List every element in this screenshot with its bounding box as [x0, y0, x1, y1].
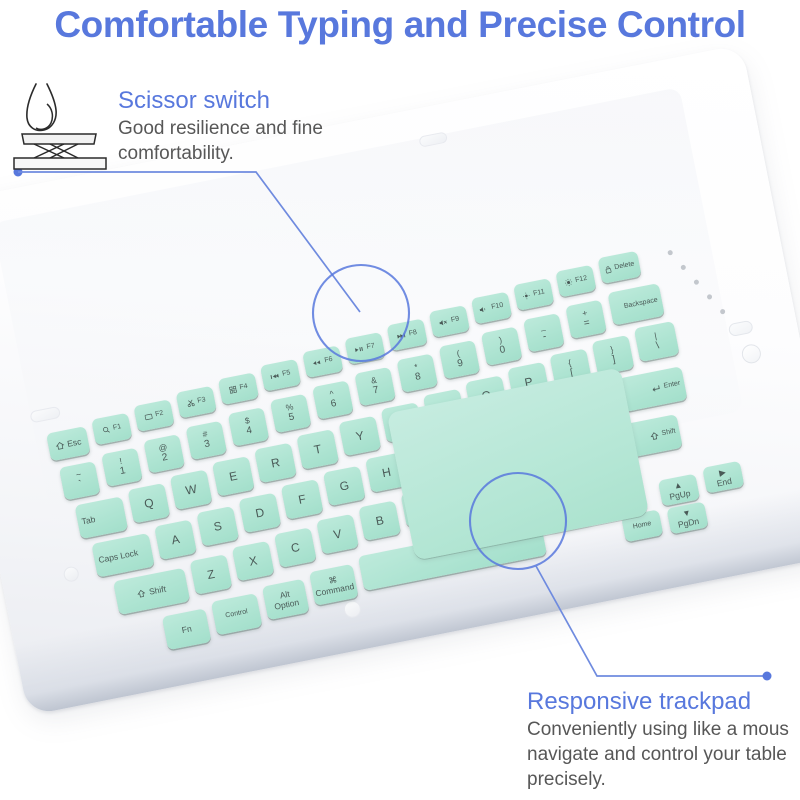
key-f9[interactable]: F9 [429, 305, 470, 338]
key-legend-lower: 0 [499, 345, 506, 356]
key-label: F8 [408, 329, 417, 338]
key-legend-lower: \ [655, 341, 660, 352]
key-tab[interactable]: Tab [75, 496, 129, 539]
scissors-icon [186, 398, 195, 407]
key-fn[interactable]: Fn [162, 608, 212, 650]
key-label: Y [355, 429, 365, 443]
lock-icon [604, 265, 612, 274]
key-f2[interactable]: F2 [133, 399, 174, 432]
key-v[interactable]: V [316, 514, 359, 555]
page-title: Comfortable Typing and Precise Control [0, 0, 800, 50]
key-label: F11 [533, 289, 546, 298]
key-4[interactable]: $ 4 [228, 407, 270, 446]
key-g[interactable]: G [323, 466, 366, 507]
play-pause-icon [354, 345, 364, 355]
key-f5[interactable]: F5 [260, 359, 301, 392]
keyboard-icon [144, 412, 153, 421]
key-label: R [270, 456, 281, 470]
key-sublabel: Option [274, 598, 300, 612]
key-alt-option-left[interactable]: Alt Option [262, 579, 310, 621]
key-label: F3 [197, 397, 206, 406]
led-indicator-5 [720, 309, 726, 315]
key-label: D [254, 506, 265, 520]
key-label: Z [206, 568, 216, 582]
key-esc[interactable]: Esc [46, 426, 91, 461]
key-label: F12 [575, 275, 588, 285]
shift-arrow-icon [649, 430, 660, 441]
key-legend-lower: = [583, 318, 591, 329]
key-legend-lower: ` [78, 480, 83, 491]
key-label: End [716, 476, 733, 488]
key-label: A [170, 533, 180, 547]
key-label: F [297, 492, 307, 506]
key-label: Control [225, 608, 249, 620]
key-f1[interactable]: F1 [91, 413, 132, 446]
key-label: S [213, 519, 223, 533]
key-f4[interactable]: F4 [218, 372, 259, 405]
key-legend-upper: | [654, 331, 658, 340]
callout-heading: Scissor switch [118, 86, 388, 116]
home-icon [55, 440, 66, 451]
scissor-switch-diagram [6, 82, 112, 174]
callout-body-line1: Conveniently using like a mous [527, 717, 800, 742]
key-legend-lower: 8 [414, 372, 421, 383]
apps-icon [228, 385, 237, 394]
base-plate [14, 158, 106, 169]
key-1[interactable]: ! 1 [101, 448, 143, 487]
key-y[interactable]: Y [338, 416, 381, 457]
led-indicator-4 [707, 294, 713, 300]
top-left-notch [29, 406, 61, 424]
bluetooth-switch[interactable] [728, 320, 754, 337]
key-label: F6 [324, 356, 333, 365]
callout-body-line2: navigate and control your table [527, 742, 800, 767]
callout-heading: Responsive trackpad [527, 687, 800, 717]
key-label: Shift [148, 584, 166, 596]
key-x[interactable]: X [232, 541, 275, 582]
key-label: Command [315, 582, 355, 598]
key-3[interactable]: # 3 [185, 421, 227, 460]
rewind-icon [312, 358, 322, 368]
key-7[interactable]: & 7 [354, 367, 396, 406]
key-label: Fn [181, 624, 192, 635]
key-w[interactable]: W [170, 469, 213, 510]
brightness-down-icon [522, 291, 531, 300]
key-legend-lower: 7 [372, 386, 379, 397]
callout-body-line3: precisely. [527, 767, 800, 792]
key-5[interactable]: % 5 [270, 394, 312, 433]
key-label: G [338, 479, 350, 493]
callout-body-line2: comfortability. [118, 141, 388, 166]
key-pgup[interactable]: ▲ PgUp [658, 474, 700, 507]
key-f7[interactable]: F7 [344, 332, 385, 365]
key-r[interactable]: R [254, 443, 297, 484]
mute-icon [439, 318, 449, 328]
key-label: F10 [491, 302, 504, 312]
key-label: B [375, 514, 385, 528]
key-command-left[interactable]: ⌘ Command [309, 564, 359, 606]
key-label: H [381, 465, 392, 479]
key-backslash[interactable]: | \ [634, 321, 680, 362]
key-legend-lower: ] [612, 355, 617, 366]
key-label: F4 [239, 383, 248, 392]
key-f10[interactable]: F10 [471, 292, 512, 325]
key-equals[interactable]: + = [565, 300, 607, 339]
key-8[interactable]: * 8 [396, 353, 438, 392]
key-legend-upper: } [610, 345, 615, 354]
key-9[interactable]: ( 9 [439, 340, 481, 379]
led-indicator-1 [667, 250, 673, 256]
key-backtick[interactable]: ~ ` [59, 461, 101, 500]
key-label: E [228, 469, 238, 483]
key-legend-lower: 6 [330, 399, 337, 410]
key-label: X [248, 554, 258, 568]
key-label: Enter [663, 380, 681, 390]
key-delete[interactable]: Delete [597, 251, 641, 284]
power-button[interactable] [740, 343, 762, 365]
key-enter[interactable]: Enter [618, 366, 687, 412]
brightness-up-icon [564, 278, 573, 287]
key-shift-left[interactable]: Shift [113, 568, 190, 615]
key-c[interactable]: C [274, 527, 317, 568]
key-d[interactable]: D [238, 493, 281, 534]
key-t[interactable]: T [296, 429, 339, 470]
key-0[interactable]: ) 0 [481, 327, 523, 366]
callout-scissor-switch: Scissor switch Good resilience and fine … [118, 86, 388, 166]
led-indicator-3 [693, 279, 699, 285]
key-6[interactable]: ^ 6 [312, 380, 354, 419]
rubber-foot-bottom-left [342, 599, 362, 619]
key-label: F2 [155, 410, 164, 419]
key-f12[interactable]: F12 [555, 265, 596, 298]
key-f6[interactable]: F6 [302, 345, 343, 378]
key-label: F9 [450, 316, 459, 325]
key-pgdn[interactable]: ▼ PgDn [666, 501, 708, 534]
shift-arrow-icon [136, 588, 147, 599]
led-indicator-2 [680, 264, 686, 270]
search-icon [102, 425, 111, 434]
rubber-foot-bottom-right [62, 565, 80, 583]
key-label: Home [632, 520, 652, 531]
key-label: PgDn [677, 516, 700, 529]
key-label: Tab [81, 515, 96, 526]
key-label: Delete [614, 261, 635, 272]
key-label: Shift [661, 428, 676, 438]
key-legend-lower: 4 [246, 426, 253, 437]
key-minus[interactable]: _ - [523, 313, 565, 352]
top-center-notch [418, 131, 448, 147]
scissor-mechanism [34, 144, 78, 158]
key-a[interactable]: A [154, 519, 197, 560]
key-label: Backspace [623, 296, 658, 310]
key-f3[interactable]: F3 [176, 386, 217, 419]
callout-responsive-trackpad: Responsive trackpad Conveniently using l… [527, 687, 800, 792]
key-label: C [290, 541, 301, 555]
key-legend-upper: { [567, 358, 572, 367]
key-legend-lower: 2 [161, 453, 168, 464]
key-z[interactable]: Z [190, 554, 233, 595]
previous-track-icon [270, 371, 280, 381]
key-f[interactable]: F [281, 479, 324, 520]
volume-down-icon [479, 305, 489, 315]
key-q[interactable]: Q [127, 483, 170, 524]
key-caps-lock[interactable]: Caps Lock [91, 533, 154, 578]
key-label: V [332, 527, 342, 541]
key-legend-lower: 1 [119, 466, 126, 477]
key-legend-lower: - [542, 332, 547, 343]
key-label: W [184, 482, 198, 497]
key-b[interactable]: B [358, 500, 401, 541]
key-s[interactable]: S [196, 506, 239, 547]
next-track-icon [396, 331, 406, 341]
key-end[interactable]: ▶ End [702, 461, 744, 494]
key-e[interactable]: E [212, 456, 255, 497]
key-f8[interactable]: F8 [386, 318, 427, 351]
key-legend-lower: 5 [288, 413, 295, 424]
enter-arrow-icon [650, 383, 662, 394]
callout-body-line1: Good resilience and fine [118, 116, 388, 141]
key-legend-lower: 3 [204, 440, 211, 451]
key-2[interactable]: @ 2 [143, 434, 185, 473]
key-label: F7 [366, 343, 375, 352]
key-label: Caps Lock [98, 548, 139, 565]
key-label: T [313, 443, 323, 457]
key-label: F5 [282, 370, 291, 379]
key-label: PgUp [669, 488, 692, 501]
key-legend-lower: 9 [457, 359, 464, 370]
keycap [22, 134, 96, 144]
key-control[interactable]: Control [211, 593, 263, 635]
key-label: Esc [66, 437, 82, 449]
key-label: F1 [112, 424, 121, 433]
key-f11[interactable]: F11 [513, 278, 554, 311]
key-backspace[interactable]: Backspace [607, 283, 664, 325]
key-label: Q [143, 496, 155, 510]
